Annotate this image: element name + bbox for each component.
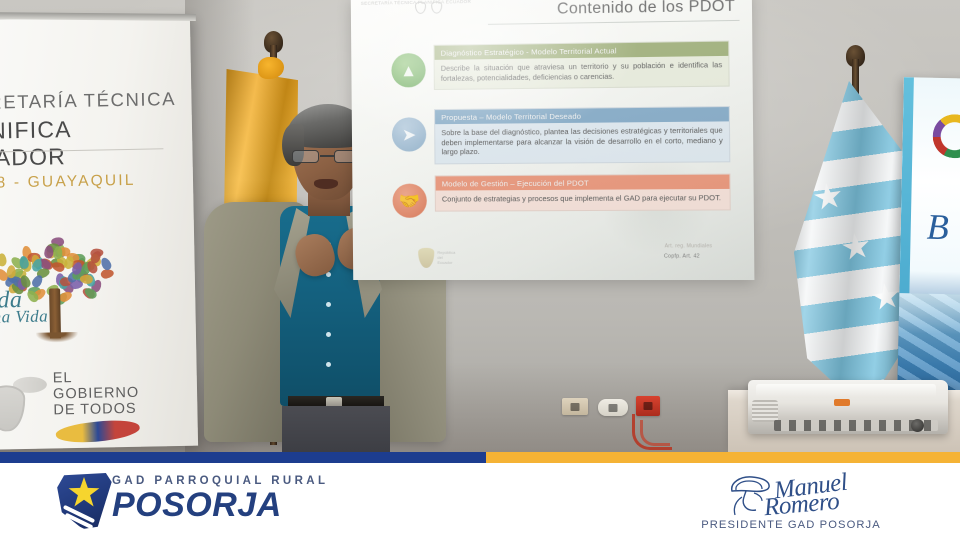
- slide-seal-icon-2: [431, 1, 442, 13]
- ecuador-coat-of-arms-icon: [0, 367, 48, 449]
- red-outlet: [636, 396, 660, 416]
- colorful-ring-logo-icon: [932, 114, 960, 159]
- red-power-cable-loop: [640, 420, 670, 446]
- tree-root: [36, 332, 78, 343]
- banner-line1: SECRETARÍA TÉCNICA: [0, 88, 186, 115]
- slide-credit-note: Art. reg. Mundiales: [665, 243, 713, 249]
- projector-indicator-label: [834, 399, 850, 406]
- slide-seal-icon-1: [415, 2, 426, 14]
- signature-caption: PRESIDENTE GAD POSORJA: [686, 519, 896, 531]
- lower-third-branding-bar: GAD PARROQUIAL RURAL POSORJA Manuel Rome…: [0, 463, 960, 540]
- projector-device: [748, 380, 948, 434]
- slide-title-underline: [488, 20, 740, 25]
- slide-source-note: Copfp. Art. 42: [664, 253, 700, 259]
- projected-slide: SECRETARÍA TÉCNICA PLANIFICA ECUADOR Con…: [351, 0, 755, 280]
- toda-una-vida-logo: Toda una Vida: [0, 285, 124, 328]
- brand-title: POSORJA: [112, 487, 328, 523]
- guayaquil-flag-folds: [794, 81, 904, 411]
- block-text: Conjunto de estrategias y procesos que i…: [436, 189, 730, 210]
- power-outlet: [598, 399, 628, 416]
- accent-bar: [0, 452, 960, 463]
- block-text: Describe la situación que atraviesa un t…: [435, 56, 729, 89]
- banner-line2: PLANIFICA ECUADOR: [0, 114, 183, 173]
- flag-knot: [258, 57, 284, 79]
- accent-bar-orange: [486, 452, 960, 463]
- accent-bar-blue: [0, 452, 486, 463]
- banner-script-mark: B: [926, 206, 949, 248]
- projector-top-panel: [756, 384, 936, 398]
- block-text: Sobre la base del diagnóstico, plantea l…: [435, 121, 729, 163]
- gobierno-de-todos-text: EL GOBIERNO DE TODOS: [53, 368, 164, 418]
- slide-block-propuesta: ➤ Propuesta – Modelo Territorial Deseado…: [392, 106, 731, 164]
- una-vida-text: una Vida: [0, 305, 124, 328]
- signature-drawing: Manuel Romero: [686, 471, 896, 517]
- ecuador-ribbon-icon: [55, 416, 141, 446]
- tree-leaf: [44, 245, 54, 259]
- territory-map-icon: ▲: [391, 53, 425, 88]
- posorja-wordmark: GAD PARROQUIAL RURAL POSORJA: [112, 475, 328, 523]
- block-heading: Modelo de Gestión – Ejecución del PDOT: [436, 175, 730, 191]
- gob-line3: DE TODOS: [53, 400, 163, 418]
- screenshot-stage: SECRETARÍA TÉCNICA PLANIFICA ECUADOR ZON…: [0, 0, 960, 540]
- block-body: Diagnóstico Estratégico - Modelo Territo…: [433, 41, 729, 91]
- slide-footer-shield-text: República del Ecuador: [437, 250, 455, 265]
- tree-leaf: [0, 254, 7, 267]
- block-body: Modelo de Gestión – Ejecución del PDOT C…: [435, 174, 731, 212]
- projector-vent: [752, 400, 778, 422]
- banner-zone: ZONA 8 - GUAYAQUIL: [0, 171, 179, 194]
- slide-header-logos: SECRETARÍA TÉCNICA PLANIFICA ECUADOR: [361, 0, 482, 17]
- mouth: [314, 179, 338, 189]
- projector-lens: [911, 419, 924, 432]
- slide-title: Contenido de los PDOT: [557, 0, 735, 19]
- data-outlet: [562, 398, 588, 415]
- conference-room-photo: SECRETARÍA TÉCNICA PLANIFICA ECUADOR ZON…: [0, 0, 960, 452]
- president-signature-block: Manuel Romero PRESIDENTE GAD POSORJA: [686, 471, 896, 531]
- target-arrow-icon: ➤: [392, 117, 426, 151]
- slide-footer-shield-icon: República del Ecuador: [415, 244, 437, 270]
- handshake-icon: 🤝: [392, 184, 426, 218]
- slide-block-diagnostico: ▲ Diagnóstico Estratégico - Modelo Terri…: [391, 41, 729, 91]
- trousers: [282, 406, 390, 452]
- left-rollup-banner: SECRETARÍA TÉCNICA PLANIFICA ECUADOR ZON…: [0, 16, 198, 451]
- signature-last-name: Romero: [763, 488, 840, 522]
- banner-rod: [0, 12, 196, 21]
- block-body: Propuesta – Modelo Territorial Deseado S…: [434, 106, 730, 164]
- slide-block-gestion: 🤝 Modelo de Gestión – Ejecución del PDOT…: [392, 174, 730, 212]
- posorja-shield-logo-icon: [52, 471, 120, 533]
